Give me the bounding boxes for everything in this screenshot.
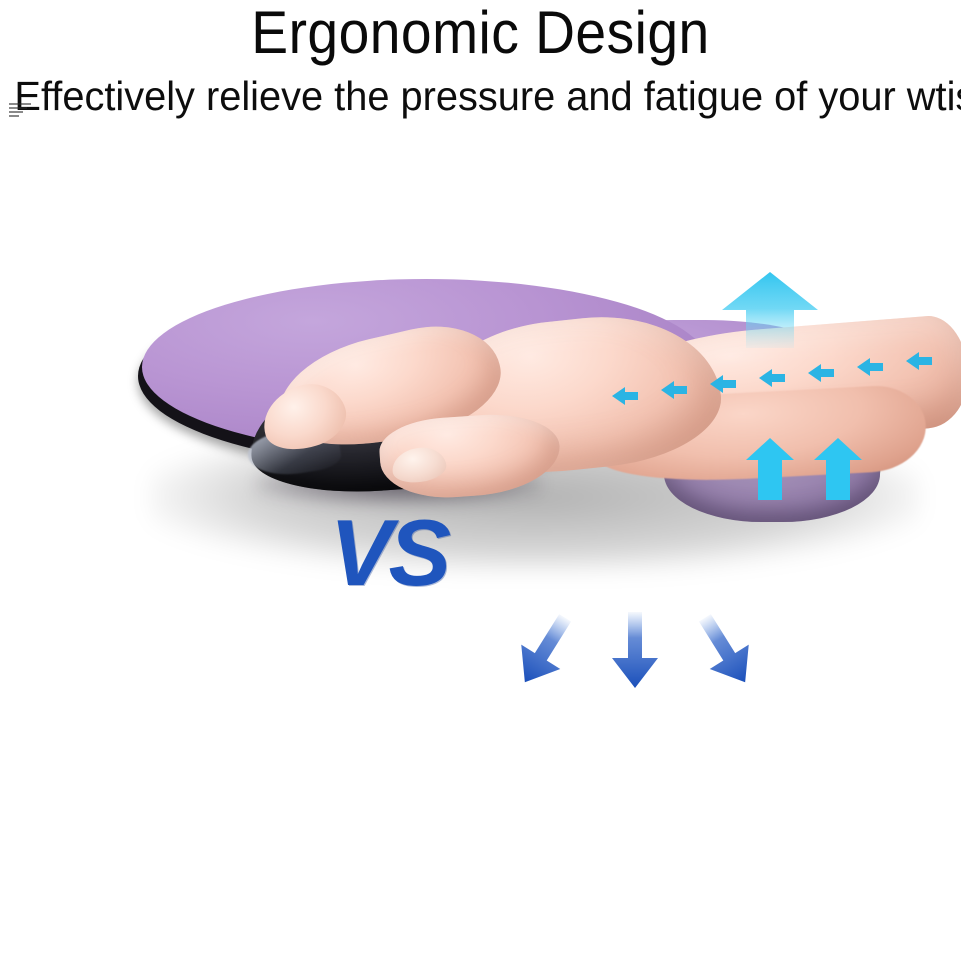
up-arrow-pair-support-icon — [744, 438, 864, 510]
watermark-artifact — [9, 103, 31, 119]
product-infographic: Ergonomic Design Effectively relieve the… — [0, 0, 961, 962]
left-arrow-row-icon — [608, 348, 958, 410]
page-subtitle: Effectively relieve the pressure and fat… — [14, 74, 946, 118]
up-arrow-lift-icon — [718, 270, 822, 348]
non-ergonomic-scene — [0, 600, 961, 962]
ergonomic-scene — [0, 130, 961, 500]
versus-label: VS — [0, 505, 869, 601]
page-title: Ergonomic Design — [38, 2, 922, 64]
